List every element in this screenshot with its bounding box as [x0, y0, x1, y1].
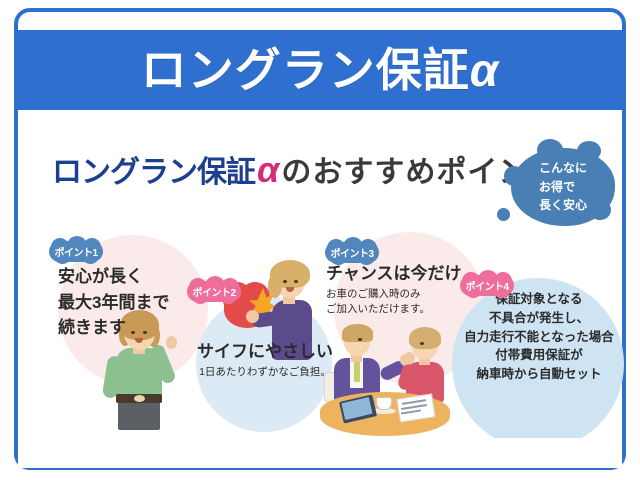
point-3-badge: ポイント3 [325, 239, 379, 265]
thought-bubble-text: こんなに お得で 長く安心 [539, 159, 587, 215]
title-banner: ロングラン保証α [18, 30, 622, 110]
point-2-badge: ポイント2 [187, 278, 241, 304]
point-2-text: サイフにやさしい 1日あたりわずかなご負担。 [190, 340, 340, 380]
point-3-sub-line-1: お車のご購入時のみ [326, 287, 462, 303]
point-2-badge-label: ポイント2 [187, 278, 241, 304]
point-1-heading-line-1: 安心が長く [58, 264, 169, 290]
coffee-cup [376, 397, 392, 410]
green-woman-cardigan [116, 348, 162, 398]
point-4-heading-line-4: 付帯費用保証が [459, 346, 619, 365]
point-4-text: 保証対象となる 不具合が発生し、 自力走行不能となった場合 付帯費用保証が 納車… [459, 290, 619, 384]
point-1-heading-line-2: 最大3年間まで [58, 290, 169, 316]
point-3-heading-line-1: チャンスは今だけ [326, 262, 462, 287]
headline-alpha: α [255, 149, 281, 190]
bubble-lobe-top-right [577, 141, 601, 161]
bubble-lobe-right [589, 200, 611, 220]
bubble-line-2: お得で [539, 178, 587, 197]
heart-woman-eye-right [294, 280, 298, 283]
bubble-line-1: こんなに [539, 159, 587, 178]
heart-woman-eye-left [283, 280, 287, 283]
customer-eye [420, 342, 424, 345]
banner-title: ロングラン保証α [141, 47, 500, 93]
headline: ロングラン保証αのおすすめポイント [52, 152, 560, 188]
point-4-badge-label: ポイント4 [460, 272, 514, 298]
heart-woman-hand [246, 310, 259, 323]
banner-title-main: ロングラン保証 [141, 44, 470, 96]
headline-brand: ロングラン保証 [52, 156, 255, 189]
salesman-eye [358, 338, 362, 341]
point-2-sub-line-1: 1日あたりわずかなご負担。 [190, 365, 340, 381]
bubble-line-3: 長く安心 [539, 196, 587, 215]
salesman-tie [354, 360, 360, 382]
bubble-lobe-top-left [537, 139, 563, 161]
point-1-heading-line-3: 続きます [58, 315, 169, 341]
green-woman-skirt [118, 400, 160, 430]
point-4-badge: ポイント4 [460, 272, 514, 298]
point-3-text: チャンスは今だけ お車のご購入時のみ ご加入いただけます。 [326, 262, 462, 318]
point-1-badge-label: ポイント1 [49, 238, 103, 264]
heart-woman-hair [270, 260, 310, 288]
customer-hair [409, 327, 441, 349]
point-1-badge: ポイント1 [49, 238, 103, 264]
point-2-heading-line-1: サイフにやさしい [190, 340, 340, 365]
banner-title-alpha: α [470, 44, 500, 96]
point-4-heading-line-5: 納車時から自動セット [459, 365, 619, 384]
bottom-mask [18, 438, 622, 468]
point-3-sub-line-2: ご加入いただけます。 [326, 302, 462, 318]
thought-bubble-tail [497, 208, 510, 221]
point-4-heading-line-2: 不具合が発生し、 [459, 309, 619, 328]
bubble-lobe-left [504, 166, 524, 186]
point-4-heading-line-3: 自力走行不能となった場合 [459, 328, 619, 347]
thought-bubble: こんなに お得で 長く安心 [511, 148, 615, 226]
poster-root: ロングラン保証α ロングラン保証αのおすすめポイント こんなに お得で 長く安心 [0, 0, 640, 480]
point-3-badge-label: ポイント3 [325, 239, 379, 265]
green-woman-belt-buckle [134, 395, 145, 402]
point-1-text: 安心が長く 最大3年間まで 続きます [58, 264, 169, 341]
